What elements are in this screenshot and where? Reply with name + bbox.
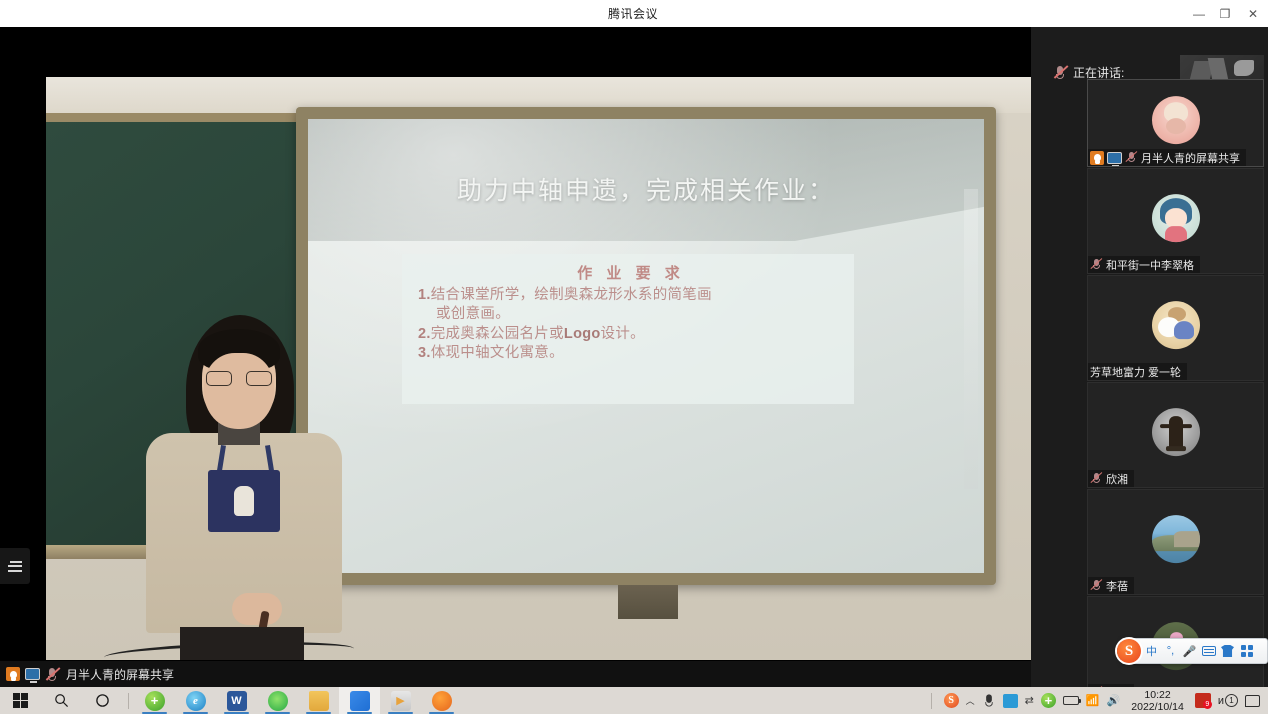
- item-number: 2.: [418, 326, 431, 342]
- sidebar-header: 正在讲话:: [1031, 27, 1268, 83]
- share-owner-label: 月半人青的屏幕共享: [66, 666, 174, 683]
- projection-screen-housing: 助力中轴申遗，完成相关作业： 作 业 要 求 1.结合课堂所学，绘制奥森龙形水系…: [296, 107, 996, 585]
- mic-muted-icon: [1090, 472, 1102, 485]
- clock-date: 2022/10/14: [1131, 701, 1184, 713]
- participant-name-bar: 月半人青的屏幕共享: [1088, 149, 1246, 166]
- action-center-icon[interactable]: [1245, 695, 1260, 707]
- media-player-icon: ▶: [391, 691, 411, 711]
- person-hands: [232, 593, 282, 625]
- list-item: 3.体现中轴文化寓意。: [418, 344, 844, 363]
- taskbar-app-wechat[interactable]: [257, 687, 298, 714]
- slide-requirement-list: 1.结合课堂所学，绘制奥森龙形水系的简笔画 或创意画。 2.完成奥森公园名片或L…: [418, 286, 844, 363]
- start-button[interactable]: [0, 687, 41, 714]
- presenter-person: [146, 315, 342, 660]
- classroom-scene: 助力中轴申遗，完成相关作业： 作 业 要 求 1.结合课堂所学，绘制奥森龙形水系…: [46, 77, 1031, 660]
- participant-tile[interactable]: 欣湘: [1087, 382, 1264, 488]
- tray-divider: [931, 693, 932, 709]
- taskbar-app-bt[interactable]: [421, 687, 462, 714]
- person-trousers: [180, 627, 304, 660]
- participant-tiles[interactable]: 月半人青的屏幕共享 和平街一中李翠格 芳草地富力 爱一轮: [1031, 79, 1268, 703]
- search-button[interactable]: [41, 687, 82, 714]
- participants-sidebar[interactable]: 正在讲话: 月半人青的屏幕共享: [1031, 27, 1268, 687]
- punctuation-mode-button[interactable]: °,: [1162, 640, 1179, 662]
- taskbar-app-tencent-meeting[interactable]: [339, 687, 380, 714]
- bt-downloader-icon: [432, 691, 452, 711]
- participant-tile[interactable]: 芳草地富力 爱一轮: [1087, 275, 1264, 381]
- slide-box-title: 作 业 要 求: [418, 262, 844, 283]
- toolbox-icon[interactable]: [1238, 640, 1255, 662]
- screen-side-strip: [964, 189, 978, 489]
- internet-explorer-icon: e: [186, 691, 206, 711]
- participant-status-icons: [1090, 151, 1137, 165]
- system-tray[interactable]: S ︿ ⇄ 📶 🔊 10:22 2022/10/14 ᴎ1: [926, 687, 1268, 714]
- mic-muted-icon: [1053, 65, 1067, 80]
- list-item: 2.完成奥森公园名片或Logo设计。: [418, 325, 844, 344]
- avatar: [1152, 301, 1200, 349]
- meeting-count-badge: 1: [1225, 694, 1238, 707]
- shared-screen-stage[interactable]: 助力中轴申遗，完成相关作业： 作 业 要 求 1.结合课堂所学，绘制奥森龙形水系…: [0, 27, 1031, 687]
- taskbar-app-explorer[interactable]: [298, 687, 339, 714]
- item-text: 完成奥森公园名片或: [431, 326, 564, 342]
- person-face: [204, 353, 274, 429]
- item-number: 1.: [418, 287, 431, 303]
- wifi-icon[interactable]: 📶: [1086, 694, 1100, 707]
- search-icon: [54, 693, 69, 708]
- host-badge-icon: [6, 667, 20, 681]
- screen-share-icon: [25, 668, 40, 680]
- security-tray-icon[interactable]: [1003, 694, 1018, 708]
- participant-name: 芳草地富力 爱一轮: [1090, 364, 1181, 380]
- voice-input-icon[interactable]: 🎤: [1181, 640, 1198, 662]
- avatar: [1152, 194, 1200, 242]
- avatar: [1152, 408, 1200, 456]
- item-text-tail: 设计。: [601, 326, 645, 342]
- shared-screen-video[interactable]: 助力中轴申遗，完成相关作业： 作 业 要 求 1.结合课堂所学，绘制奥森龙形水系…: [0, 27, 1031, 661]
- taskbar-left[interactable]: e W ▶: [0, 687, 462, 714]
- slide-content-box: 作 业 要 求 1.结合课堂所学，绘制奥森龙形水系的简笔画 或创意画。 2.完成…: [402, 254, 854, 404]
- item-text: 体现中轴文化寓意。: [431, 345, 564, 361]
- sweater-graphic: [208, 470, 280, 532]
- close-button[interactable]: ✕: [1238, 0, 1268, 27]
- window-controls: — ❐ ✕: [1186, 0, 1268, 27]
- chinese-mode-button[interactable]: 中: [1143, 640, 1160, 662]
- windows-logo-icon: [13, 693, 28, 708]
- tray-expand-chevron-icon[interactable]: ︿: [966, 694, 975, 707]
- meeting-tray-icon[interactable]: ᴎ1: [1218, 694, 1238, 707]
- item-text-cont: 或创意画。: [418, 305, 844, 324]
- window-title: 腾讯会议: [80, 5, 1186, 22]
- list-item: 1.结合课堂所学，绘制奥森龙形水系的简笔画 或创意画。: [418, 286, 844, 325]
- projection-screen: 助力中轴申遗，完成相关作业： 作 业 要 求 1.结合课堂所学，绘制奥森龙形水系…: [308, 119, 984, 573]
- 360-tray-icon[interactable]: [1041, 693, 1056, 708]
- avatar: [1152, 96, 1200, 144]
- clock-time: 10:22: [1131, 689, 1184, 701]
- window-title-bar[interactable]: 腾讯会议 — ❐ ✕: [0, 0, 1268, 27]
- glasses-icon: [206, 371, 272, 386]
- notification-app-icon[interactable]: [1195, 693, 1211, 708]
- restore-button[interactable]: ❐: [1212, 0, 1238, 27]
- microsoft-word-icon: W: [227, 691, 247, 711]
- list-icon: [8, 558, 22, 574]
- avatar: [1152, 515, 1200, 563]
- participant-name-bar: 李蓓: [1088, 577, 1134, 594]
- skin-icon[interactable]: [1219, 640, 1236, 662]
- slide-title: 助力中轴申遗，完成相关作业：: [308, 171, 984, 207]
- participant-name: 和平街一中李翠格: [1106, 257, 1194, 273]
- wechat-icon: [268, 691, 288, 711]
- participant-tile[interactable]: 月半人青的屏幕共享: [1087, 79, 1264, 167]
- participant-name-bar: 欣湘: [1088, 470, 1134, 487]
- share-status-bar: 月半人青的屏幕共享: [0, 661, 1031, 687]
- host-badge-icon: [1090, 151, 1104, 165]
- microphone-tray-icon[interactable]: [982, 693, 995, 707]
- item-number: 3.: [418, 345, 431, 361]
- item-logo-word: Logo: [564, 326, 601, 342]
- clock[interactable]: 10:22 2022/10/14: [1127, 689, 1188, 713]
- windows-taskbar[interactable]: e W ▶ S ︿: [0, 687, 1268, 714]
- participant-name-bar: 芳草地富力 爱一轮: [1088, 363, 1187, 380]
- mic-muted-icon: [1090, 579, 1102, 592]
- battery-icon[interactable]: [1063, 696, 1079, 705]
- participant-tile[interactable]: 和平街一中李翠格: [1087, 168, 1264, 274]
- speaking-label: 正在讲话:: [1073, 64, 1124, 81]
- sogou-tray-icon[interactable]: S: [944, 693, 959, 708]
- taskbar-app-player[interactable]: ▶: [380, 687, 421, 714]
- tencent-meeting-icon: [350, 691, 370, 711]
- screen-share-icon: [1107, 152, 1122, 164]
- participants-list-toggle-button[interactable]: [0, 548, 30, 584]
- 360-safe-icon: [145, 691, 165, 711]
- participant-name: 李蓓: [1106, 578, 1128, 594]
- app-body: 助力中轴申遗，完成相关作业： 作 业 要 求 1.结合课堂所学，绘制奥森龙形水系…: [0, 27, 1268, 687]
- participant-name: 月半人青的屏幕共享: [1141, 150, 1240, 166]
- cortana-button[interactable]: [82, 687, 123, 714]
- taskbar-app-ie[interactable]: e: [175, 687, 216, 714]
- participant-name: 欣湘: [1106, 471, 1128, 487]
- minimize-button[interactable]: —: [1186, 0, 1212, 27]
- cortana-circle-icon: [95, 693, 110, 708]
- file-explorer-icon: [309, 691, 329, 711]
- taskbar-app-word[interactable]: W: [216, 687, 257, 714]
- network-transfer-icon[interactable]: ⇄: [1025, 694, 1034, 707]
- sogou-logo-icon[interactable]: S: [1117, 639, 1141, 663]
- mic-muted-icon: [1125, 151, 1137, 164]
- taskbar-app-360[interactable]: [134, 687, 175, 714]
- item-text: 结合课堂所学，绘制奥森龙形水系的简笔画: [431, 287, 712, 303]
- sogou-ime-toolbar[interactable]: S 中 °, 🎤: [1121, 638, 1268, 664]
- mic-muted-icon: [1090, 258, 1102, 271]
- participant-name-bar: 和平街一中李翠格: [1088, 256, 1200, 273]
- soft-keyboard-icon[interactable]: [1200, 640, 1217, 662]
- taskbar-divider: [128, 693, 129, 709]
- participant-tile[interactable]: 李蓓: [1087, 489, 1264, 595]
- podium: [618, 585, 678, 619]
- mic-muted-icon: [45, 667, 59, 682]
- volume-icon[interactable]: 🔊: [1107, 694, 1121, 707]
